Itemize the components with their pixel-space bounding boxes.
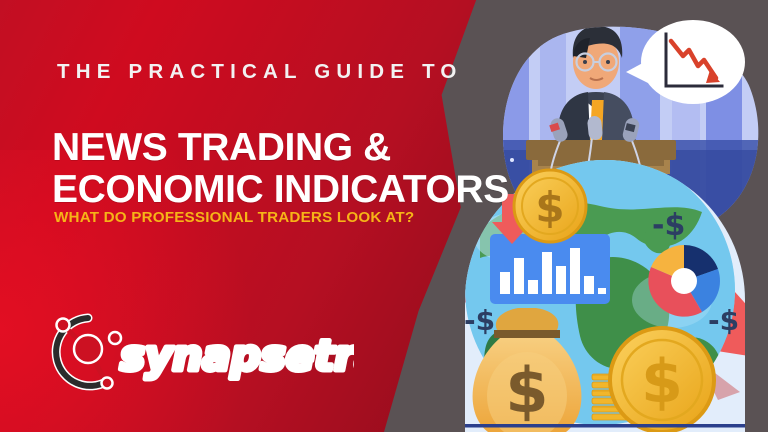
gold-coin-small: $	[514, 170, 586, 242]
loss-label-top: -$	[652, 208, 685, 243]
loss-label-right: -$	[708, 304, 739, 337]
loss-label-left: -$	[464, 304, 495, 337]
ground-line	[460, 424, 750, 428]
page-title: NEWS TRADING & ECONOMIC INDICATORS	[52, 128, 509, 209]
brand-logo[interactable]: synapsetrading synapsetrading	[44, 306, 354, 392]
synapse-node-circle-icon	[56, 318, 121, 389]
svg-text:$: $	[505, 354, 548, 427]
brand-wordmark-text: synapsetrading	[120, 331, 354, 380]
title-line-1: NEWS TRADING &	[52, 126, 391, 169]
subtitle-text: WHAT DO PROFESSIONAL TRADERS LOOK AT?	[54, 209, 414, 226]
brand-wordmark: synapsetrading synapsetrading	[120, 331, 354, 380]
svg-text:$: $	[535, 183, 564, 232]
kicker-text: THE PRACTICAL GUIDE TO	[57, 60, 463, 84]
svg-text:$: $	[641, 347, 683, 417]
illustration-panel: $ $	[440, 0, 768, 432]
bar-chart-card	[490, 234, 610, 304]
title-line-2: ECONOMIC INDICATORS	[52, 170, 509, 209]
speech-bubble-body	[641, 20, 745, 104]
gold-coin-large: $	[610, 328, 714, 432]
infographic-banner: $ $	[0, 0, 768, 432]
